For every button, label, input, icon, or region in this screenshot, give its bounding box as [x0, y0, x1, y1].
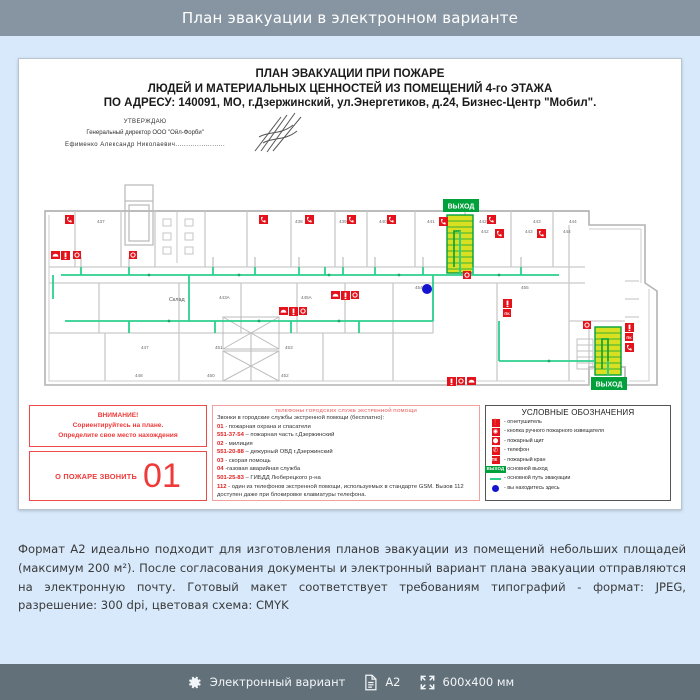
- phone-desc: - милиция: [224, 441, 253, 447]
- signature-mark: [251, 111, 307, 153]
- approval-block: УТВЕРЖДАЮ Генеральный директор ООО "Ойл-…: [65, 117, 225, 151]
- phone-number: 501-25-83: [217, 475, 244, 481]
- exit-sign-right: ВЫХОД: [591, 377, 627, 390]
- phone-entry: 03 - скорая помощь: [217, 457, 475, 466]
- phone-number: 551-37-54: [217, 432, 244, 438]
- svg-text:443А: 443А: [219, 295, 231, 300]
- phone-desc: – пожарная часть г.Дзержинский: [244, 432, 335, 438]
- svg-text:ВЫХОД: ВЫХОД: [596, 382, 623, 389]
- page-root: План эвакуации в электронном варианте ПЛ…: [0, 0, 700, 700]
- page-header: План эвакуации в электронном варианте: [0, 0, 700, 36]
- legend-item: - телефон: [490, 446, 666, 455]
- poster-info-row: ВНИМАНИЕ! Сориентируйтесь на плане. Опре…: [29, 405, 671, 501]
- route-arrows: [148, 274, 551, 363]
- footer-label: 600x400 мм: [443, 675, 515, 689]
- poster-heading: ПЛАН ЭВАКУАЦИИ ПРИ ПОЖАРЕ ЛЮДЕЙ И МАТЕРИ…: [29, 67, 671, 111]
- footer-item-format: A2: [363, 674, 400, 691]
- svg-text:442: 442: [481, 229, 489, 234]
- svg-text:452: 452: [281, 373, 289, 378]
- warning-column: ВНИМАНИЕ! Сориентируйтесь на плане. Опре…: [29, 405, 207, 501]
- fire-call-box: О ПОЖАРЕ ЗВОНИТЬ 01: [29, 451, 207, 501]
- legend-item: - кнопка ручного пожарного извещателя: [490, 427, 666, 436]
- emergency-phones-title: ТЕЛЕФОНЫ ГОРОДСКИХ СЛУЖБ ЭКСТРЕННОЙ ПОМО…: [217, 408, 475, 413]
- svg-text:443: 443: [525, 229, 533, 234]
- phone-desc: - пожарная охрана и спасатели: [224, 424, 311, 430]
- svg-text:440: 440: [379, 219, 387, 224]
- emergency-phones-box: ТЕЛЕФОНЫ ГОРОДСКИХ СЛУЖБ ЭКСТРЕННОЙ ПОМО…: [212, 405, 480, 501]
- svg-text:441: 441: [427, 219, 435, 224]
- exit-sign-top: ВЫХОД: [443, 199, 479, 212]
- approval-position: Генеральный директор ООО "Ойл-Форби": [65, 128, 225, 139]
- legend-label: - кнопка ручного пожарного извещателя: [504, 429, 604, 434]
- phone-entry: 04 -газовая аварийная служба: [217, 465, 475, 474]
- attention-box: ВНИМАНИЕ! Сориентируйтесь на плане. Опре…: [29, 405, 207, 447]
- gear-icon: [186, 674, 203, 691]
- exit-sign-icon: ВЫХОД: [490, 466, 501, 472]
- legend-title: УСЛОВНЫЕ ОБОЗНАЧЕНИЯ: [490, 408, 666, 417]
- footer-label: Электронный вариант: [210, 675, 346, 689]
- room-label-storage: Склад: [169, 297, 185, 303]
- attention-title: ВНИМАНИЕ!: [98, 411, 139, 421]
- phone-desc: - один из телефонов экстренной помощи, и…: [227, 484, 464, 490]
- you-are-here-icon: [490, 485, 501, 492]
- legend-item: ПК - пожарный кран: [490, 456, 666, 465]
- phone-entry: 551-37-54 – пожарная часть г.Дзержинский: [217, 431, 475, 440]
- legend-label: - пожарный кран: [504, 458, 545, 463]
- emergency-phones-lead: Звонки в городские службы экстренной пом…: [217, 414, 475, 423]
- svg-text:454: 454: [415, 285, 423, 290]
- telephone-icon: [490, 447, 501, 455]
- document-icon: [363, 674, 378, 691]
- phone-entry: 112 - один из телефонов экстренной помощ…: [217, 483, 475, 492]
- attention-line-2: Сориентируйтесь на плане.: [73, 421, 164, 431]
- legend-label: - телефон: [504, 448, 529, 453]
- svg-text:442: 442: [479, 219, 487, 224]
- phone-entry: 501-25-83 – ГИБДД Люберецкого р-на: [217, 474, 475, 483]
- footer-label: A2: [385, 675, 400, 689]
- fire-extinguisher-icon: [490, 419, 501, 427]
- svg-text:ВЫХОД: ВЫХОД: [448, 204, 475, 211]
- fire-hydrant-icon: ПК: [490, 456, 501, 464]
- legend-label: - вы находитесь здесь: [504, 486, 560, 491]
- svg-text:451: 451: [215, 345, 223, 350]
- svg-text:443: 443: [533, 219, 541, 224]
- heading-line-2: ЛЮДЕЙ И МАТЕРИАЛЬНЫХ ЦЕННОСТЕЙ ИЗ ПОМЕЩЕ…: [29, 82, 671, 97]
- svg-text:450: 450: [207, 373, 215, 378]
- footer-item-electronic: Электронный вариант: [186, 674, 346, 691]
- legend-item: - вы находитесь здесь: [490, 484, 666, 493]
- svg-text:438: 438: [295, 219, 303, 224]
- heading-line-1: ПЛАН ЭВАКУАЦИИ ПРИ ПОЖАРЕ: [29, 67, 671, 82]
- svg-text:439: 439: [339, 219, 347, 224]
- legend-label: - огнетушитель: [504, 420, 542, 425]
- svg-text:444: 444: [569, 219, 577, 224]
- manual-call-point-icon: [490, 428, 501, 436]
- phone-desc: – дежурный ОВД г.Дзержинский: [244, 449, 333, 455]
- fire-shield-icon: [490, 437, 501, 445]
- fire-hydrant-abbrev: ПК: [492, 457, 498, 462]
- svg-text:455: 455: [521, 285, 529, 290]
- phone-entry: 01 - пожарная охрана и спасатели: [217, 423, 475, 432]
- page-title: План эвакуации в электронном варианте: [182, 9, 518, 27]
- approval-title: УТВЕРЖДАЮ: [65, 117, 225, 128]
- heading-line-3: ПО АДРЕСУ: 140091, МО, г.Дзержинский, ул…: [29, 96, 671, 111]
- legend-item: - пожарный щит: [490, 437, 666, 446]
- description-paragraph: Формат А2 идеально подходит для изготовл…: [18, 540, 686, 615]
- resize-icon: [419, 674, 436, 691]
- floor-plan: ПК: [29, 171, 673, 393]
- phone-entry: 551-20-88 – дежурный ОВД г.Дзержинский: [217, 448, 475, 457]
- emergency-phones-tail: доступен даже при блокировке клавиатуры …: [217, 491, 475, 500]
- evacuation-poster: ПЛАН ЭВАКУАЦИИ ПРИ ПОЖАРЕ ЛЮДЕЙ И МАТЕРИ…: [18, 58, 682, 510]
- svg-text:437: 437: [97, 219, 105, 224]
- phone-number: 551-20-88: [217, 449, 244, 455]
- poster-container: ПЛАН ЭВАКУАЦИИ ПРИ ПОЖАРЕ ЛЮДЕЙ И МАТЕРИ…: [0, 36, 700, 510]
- legend-label: - пожарный щит: [504, 439, 544, 444]
- footer-item-size: 600x400 мм: [419, 674, 515, 691]
- page-footer: Электронный вариант A2 600x400 мм: [0, 664, 700, 700]
- room-labels-top: 437 438 439 440 441 442 443 444: [97, 219, 577, 224]
- legend-item: - основной путь эвакуации: [490, 474, 666, 483]
- fire-call-label: О ПОЖАРЕ ЗВОНИТЬ: [55, 472, 137, 481]
- attention-line-3: Определите свое место нахождения: [58, 431, 177, 441]
- legend-label: - основной путь эвакуации: [504, 476, 570, 481]
- phone-desc: - скорая помощь: [224, 458, 271, 464]
- legend-item: - огнетушитель: [490, 418, 666, 427]
- phone-desc: -газовая аварийная служба: [224, 466, 301, 472]
- svg-text:448: 448: [135, 373, 143, 378]
- svg-text:453: 453: [285, 345, 293, 350]
- phone-desc: – ГИБДД Люберецкого р-на: [244, 475, 321, 481]
- legend-item: ВЫХОД - основной выход: [490, 465, 666, 474]
- svg-text:445А: 445А: [301, 295, 313, 300]
- legend-label: - основной выход: [504, 467, 548, 472]
- fire-call-number: 01: [143, 459, 181, 493]
- evacuation-route-icon: [490, 478, 501, 480]
- phone-number: 112: [217, 484, 227, 490]
- svg-text:444: 444: [563, 229, 571, 234]
- you-are-here-icon: [422, 284, 432, 294]
- svg-text:447: 447: [141, 345, 149, 350]
- phone-entry: 02 - милиция: [217, 440, 475, 449]
- approval-person: Ефименко Александр Николаевич...........…: [65, 140, 225, 151]
- legend-box: УСЛОВНЫЕ ОБОЗНАЧЕНИЯ - огнетушитель - кн…: [485, 405, 671, 501]
- floor-plan-svg: ПК: [29, 171, 673, 393]
